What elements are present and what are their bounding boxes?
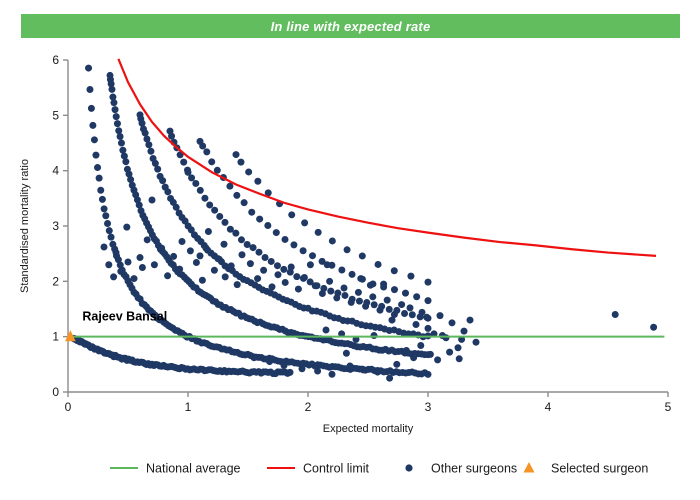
data-point (137, 254, 144, 261)
data-point (323, 327, 330, 334)
data-point (122, 158, 129, 165)
legend-label: National average (146, 462, 241, 476)
data-point (439, 332, 446, 339)
data-point (413, 293, 420, 300)
data-point (288, 211, 295, 218)
data-point (402, 290, 409, 297)
data-point (295, 286, 302, 293)
y-tick-label: 2 (52, 274, 59, 288)
data-point (108, 234, 115, 241)
data-point (384, 297, 391, 304)
data-point (338, 266, 345, 273)
data-point (149, 196, 156, 203)
data-point (113, 249, 120, 256)
data-point (86, 86, 93, 93)
data-point (251, 354, 258, 361)
data-point (341, 284, 348, 291)
data-point (147, 148, 154, 155)
data-point (89, 122, 96, 129)
data-point (260, 267, 267, 274)
data-point (348, 299, 355, 306)
data-point (268, 258, 275, 265)
data-point (309, 252, 316, 259)
data-point (275, 271, 282, 278)
scatter-points (71, 65, 658, 382)
data-point (115, 127, 122, 134)
data-point (650, 324, 657, 331)
data-point (117, 133, 124, 140)
data-point (206, 201, 213, 208)
data-point (101, 244, 108, 251)
data-point (446, 349, 453, 356)
data-point (371, 301, 378, 308)
data-point (239, 251, 246, 258)
data-point (417, 342, 424, 349)
data-point (85, 65, 92, 72)
data-point (216, 256, 223, 263)
data-point (281, 362, 288, 369)
data-point (314, 367, 321, 374)
data-point (391, 267, 398, 274)
data-point (360, 366, 367, 373)
data-point (108, 86, 115, 93)
data-point (288, 263, 295, 270)
x-tick-label: 5 (665, 400, 672, 414)
data-point (264, 222, 271, 229)
x-tick-label: 0 (65, 400, 72, 414)
data-point (197, 252, 204, 259)
data-point (329, 237, 336, 244)
y-tick-label: 4 (52, 164, 59, 178)
data-point (203, 148, 210, 155)
x-tick-label: 1 (185, 400, 192, 414)
data-point (168, 133, 175, 140)
data-point (273, 229, 280, 236)
x-tick-label: 2 (305, 400, 312, 414)
data-point (176, 266, 183, 273)
data-point (113, 113, 120, 120)
data-point (293, 273, 300, 280)
data-point (164, 188, 171, 195)
data-point (221, 241, 228, 248)
data-point (327, 288, 334, 295)
y-tick-label: 0 (52, 385, 59, 399)
data-point (159, 177, 166, 184)
data-point (238, 236, 245, 243)
data-point (375, 261, 382, 268)
data-point (369, 293, 376, 300)
data-point (280, 266, 287, 273)
data-point (201, 195, 208, 202)
data-point (187, 247, 194, 254)
data-point (401, 310, 408, 317)
data-point (449, 319, 456, 326)
data-point (154, 166, 161, 173)
legend-dot-swatch (405, 464, 412, 471)
x-tick-label: 3 (425, 400, 432, 414)
data-point (221, 219, 228, 226)
plot-svg: 0123456012345 Rajeev Bansal Expected mor… (0, 0, 700, 500)
data-point (374, 369, 381, 376)
data-point (333, 294, 340, 301)
data-point (233, 192, 240, 199)
data-point (211, 267, 218, 274)
data-point (101, 205, 108, 212)
data-point (145, 141, 152, 148)
data-point (455, 344, 462, 351)
data-point (386, 306, 393, 313)
data-point (233, 151, 240, 158)
data-point (248, 209, 255, 216)
data-point (425, 297, 432, 304)
data-point (367, 282, 374, 289)
data-point (228, 262, 235, 269)
data-point (423, 314, 430, 321)
data-point (347, 362, 354, 369)
data-point (131, 275, 138, 282)
legend-label: Selected surgeon (551, 462, 648, 476)
legend-triangle-swatch (524, 462, 535, 473)
data-point (287, 369, 294, 376)
data-point (377, 307, 384, 314)
data-point (234, 281, 241, 288)
data-point (380, 281, 387, 288)
data-point (473, 339, 480, 346)
data-point (312, 282, 319, 289)
data-point (110, 273, 117, 280)
data-point (266, 358, 273, 365)
data-point (97, 187, 104, 194)
data-point (398, 301, 405, 308)
data-point (407, 304, 414, 311)
data-point (88, 105, 95, 112)
y-axis-title: Standardised mortality ratio (19, 159, 31, 293)
data-point (123, 224, 130, 231)
data-point (427, 351, 434, 358)
data-point (410, 354, 417, 361)
x-axis-title: Expected mortality (323, 423, 414, 435)
data-point (117, 268, 124, 275)
data-point (329, 371, 336, 378)
data-point (241, 199, 248, 206)
data-point (105, 261, 112, 268)
data-point (356, 298, 363, 305)
data-point (250, 244, 257, 251)
data-point (262, 254, 269, 261)
data-point (211, 207, 218, 214)
data-point (197, 187, 204, 194)
data-point (180, 159, 187, 166)
data-point (110, 99, 117, 106)
funnel-plot-chart: 0123456012345 Rajeev Bansal Expected mor… (0, 0, 700, 500)
data-point (326, 278, 333, 285)
data-point (425, 325, 432, 332)
data-point (104, 220, 111, 227)
data-point (341, 292, 348, 299)
y-tick-label: 6 (52, 53, 59, 67)
data-point (437, 312, 444, 319)
selected-surgeon-label: Rajeev Bansal (82, 310, 167, 324)
data-point (208, 158, 215, 165)
data-point (114, 120, 121, 127)
data-point (344, 246, 351, 253)
x-tick-label: 4 (545, 400, 552, 414)
data-point (112, 106, 119, 113)
data-point (96, 175, 103, 182)
data-point (199, 142, 206, 149)
data-point (461, 328, 468, 335)
data-point (301, 274, 308, 281)
data-point (139, 264, 146, 271)
data-point (371, 332, 378, 339)
control-limit-curve (118, 59, 656, 256)
data-point (158, 245, 165, 252)
data-point (409, 311, 416, 318)
data-point (92, 152, 99, 159)
data-point (205, 228, 212, 235)
legend-label: Control limit (303, 462, 370, 476)
data-point (102, 212, 109, 219)
data-point (612, 311, 619, 318)
y-tick-label: 5 (52, 108, 59, 122)
data-point (232, 230, 239, 237)
data-point (319, 290, 326, 297)
data-point (299, 365, 306, 372)
data-point (307, 261, 314, 268)
data-point (434, 356, 441, 363)
data-point (94, 164, 101, 171)
data-point (343, 350, 350, 357)
data-point (255, 249, 262, 256)
data-point (245, 168, 252, 175)
legend-label: Other surgeons (431, 462, 517, 476)
data-point (144, 236, 151, 243)
data-point (99, 196, 106, 203)
data-point (389, 317, 396, 324)
data-point (357, 275, 364, 282)
data-point (349, 271, 356, 278)
data-point (222, 273, 229, 280)
data-point (413, 321, 420, 328)
data-point (301, 219, 308, 226)
data-point (425, 279, 432, 286)
data-point (290, 241, 297, 248)
data-point (391, 286, 398, 293)
data-point (185, 169, 192, 176)
data-point (237, 159, 244, 166)
data-point (403, 347, 410, 354)
data-point (386, 375, 393, 382)
data-point (164, 272, 171, 279)
data-point (125, 258, 132, 265)
y-tick-label: 1 (52, 330, 59, 344)
data-point (203, 245, 210, 252)
data-point (315, 229, 322, 236)
data-point (300, 247, 307, 254)
data-point (216, 213, 223, 220)
y-tick-label: 3 (52, 219, 59, 233)
data-point (362, 303, 369, 310)
data-point (142, 130, 149, 137)
data-point (355, 289, 362, 296)
data-point (151, 261, 158, 268)
chart-legend: National averageControl limitOther surge… (110, 462, 648, 476)
data-point (393, 361, 400, 368)
data-point (282, 236, 289, 243)
data-point (282, 279, 289, 286)
reference-lines (68, 59, 664, 337)
data-point (407, 273, 414, 280)
data-point (324, 261, 331, 268)
data-point (106, 227, 113, 234)
data-point (199, 277, 206, 284)
data-point (119, 147, 126, 154)
data-point (256, 216, 263, 223)
data-point (254, 178, 261, 185)
data-point (91, 136, 98, 143)
data-point (467, 317, 474, 324)
data-point (254, 275, 261, 282)
data-point (274, 262, 281, 269)
data-point (193, 259, 200, 266)
data-point (425, 371, 432, 378)
data-point (456, 355, 463, 362)
data-point (359, 252, 366, 259)
data-point (247, 260, 254, 267)
data-point (118, 140, 125, 147)
data-point (179, 238, 186, 245)
data-point (269, 283, 276, 290)
data-point (192, 180, 199, 187)
data-point (170, 253, 177, 260)
